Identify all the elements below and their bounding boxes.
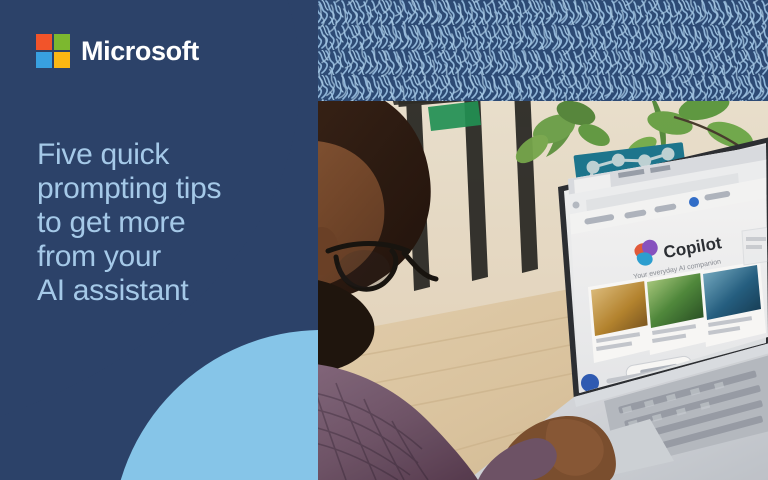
headline-line-3: to get more xyxy=(37,206,299,240)
squiggle-wave-pattern xyxy=(318,0,768,101)
logo-square-red xyxy=(36,34,52,50)
marketing-card: Copilot Your everyday AI companion xyxy=(0,0,768,480)
page-title: Five quick prompting tips to get more fr… xyxy=(37,138,299,308)
microsoft-logo-icon xyxy=(36,34,70,68)
left-panel: Microsoft Five quick prompting tips to g… xyxy=(0,0,318,480)
logo-square-green xyxy=(54,34,70,50)
logo-square-blue xyxy=(36,52,52,68)
headline-line-5: AI assistant xyxy=(37,274,299,308)
headline-line-1: Five quick xyxy=(37,138,299,172)
right-column: Copilot Your everyday AI companion xyxy=(318,0,768,480)
microsoft-wordmark: Microsoft xyxy=(81,38,199,65)
headline-line-2: prompting tips xyxy=(37,172,299,206)
light-blue-arc xyxy=(112,330,318,480)
logo-square-yellow xyxy=(54,52,70,68)
hero-photo: Copilot Your everyday AI companion xyxy=(318,101,768,480)
microsoft-logo-lockup: Microsoft xyxy=(36,34,199,68)
headline-line-4: from your xyxy=(37,240,299,274)
